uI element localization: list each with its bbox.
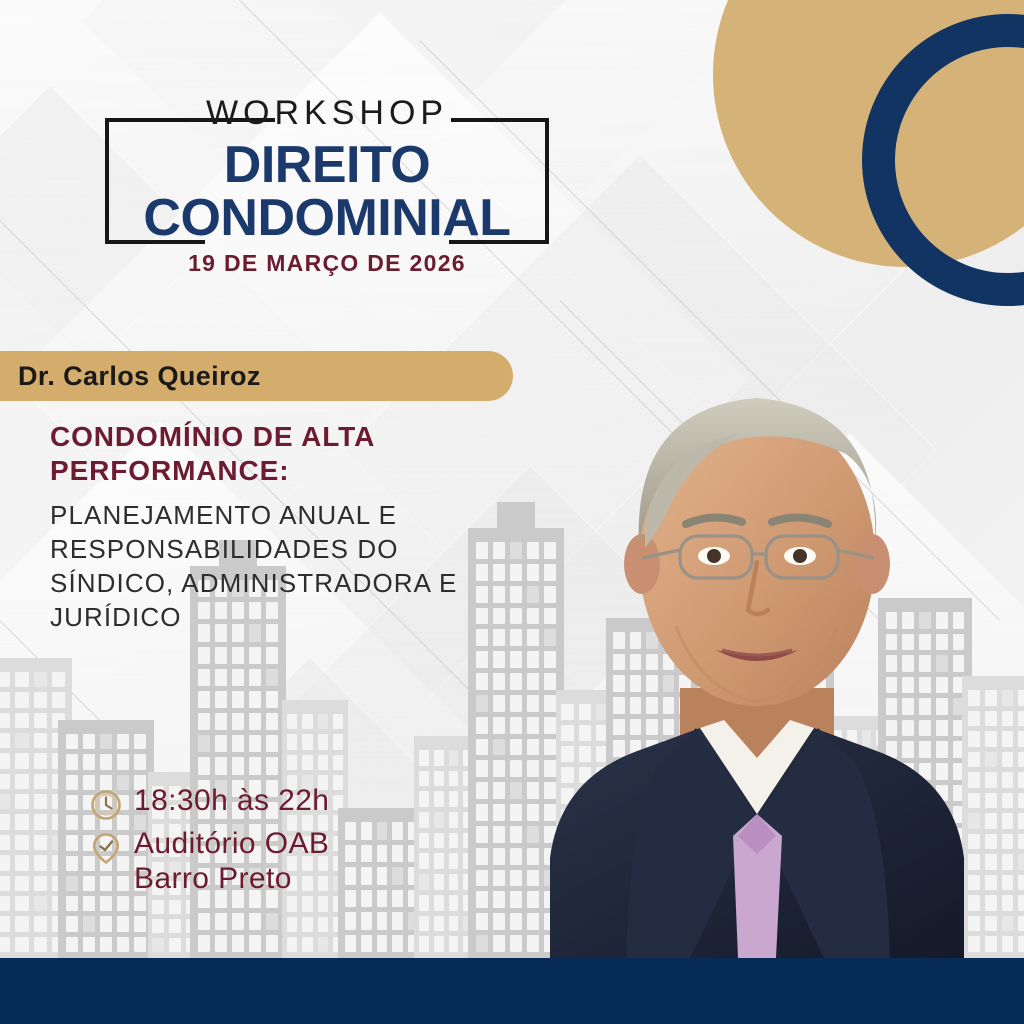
event-venue-line-1: Auditório OAB [134,827,329,860]
header-block: WORKSHOP DIREITO CONDOMINIAL 19 DE MARÇO… [105,96,549,275]
speaker-portrait [490,258,1024,958]
event-venue-row: Auditório OAB Barro Preto [88,827,329,897]
event-time: 18:30h às 22h [134,784,329,819]
event-title-line-1: DIREITO [105,139,549,192]
building-windows [345,822,419,952]
event-title-line-2: CONDOMINIAL [105,192,549,245]
event-venue-line-2: Barro Preto [134,862,292,895]
event-date: 19 DE MARÇO DE 2026 [105,252,549,275]
speaker-name: Dr. Carlos Queiroz [18,361,261,392]
clock-icon [88,787,124,823]
talk-subtitle: PLANEJAMENTO ANUAL E RESPONSABILIDADES D… [50,498,495,634]
location-pin-icon [88,830,124,866]
navy-bottom-bar [0,958,1024,1024]
event-venue: Auditório OAB Barro Preto [134,827,329,897]
poster-canvas: WORKSHOP DIREITO CONDOMINIAL 19 DE MARÇO… [0,0,1024,1024]
event-details-block: 18:30h às 22h Auditório OAB Barro Preto [88,784,329,901]
event-time-row: 18:30h às 22h [88,784,329,823]
workshop-kicker: WORKSHOP [105,96,549,130]
building-windows [0,672,65,952]
speaker-name-banner: Dr. Carlos Queiroz [0,351,513,401]
skyline-building [338,808,426,958]
talk-headline: CONDOMÍNIO DE ALTA PERFORMANCE: [50,420,480,488]
building-windows [419,750,473,952]
